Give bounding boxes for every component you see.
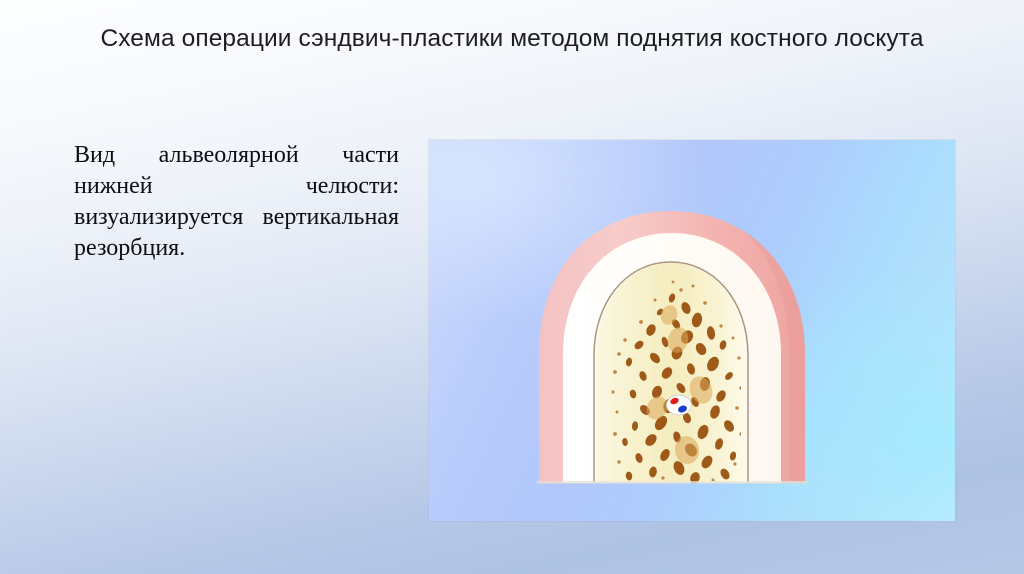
illustration-canvas: [429, 140, 955, 521]
illustration-image: [429, 140, 955, 521]
slide-body-text: Вид альвеолярной части нижней челюсти: в…: [74, 140, 399, 264]
section-cut-line: [537, 481, 807, 484]
page-title: Схема операции сэндвич-пластики методом …: [62, 22, 962, 55]
mandible-cross-section-svg: [429, 140, 955, 521]
presentation-slide: Схема операции сэндвич-пластики методом …: [0, 0, 1024, 574]
ridge-group: [539, 211, 805, 485]
